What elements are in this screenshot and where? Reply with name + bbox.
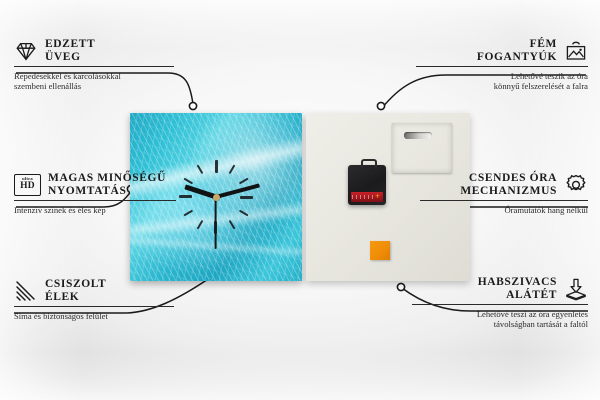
divider	[14, 306, 174, 307]
feature-description: Sima és biztonságos felület	[14, 311, 174, 321]
divider	[412, 304, 588, 305]
quartz-mechanism-box: +	[348, 165, 386, 205]
feature-description: Repedésekkel és karcolásokkal szembeni e…	[14, 71, 174, 91]
diamond-icon	[14, 39, 38, 63]
feature-title: CSENDES ÓRA MECHANIZMUS	[460, 172, 557, 197]
battery: +	[351, 192, 383, 202]
divider	[14, 66, 174, 67]
wire-endpoint-foam-pad	[397, 283, 404, 290]
clock-center-cap	[213, 194, 220, 201]
feature-description: Lehetővé teszi az óra egyenletes távolsá…	[412, 309, 588, 329]
divider	[416, 66, 588, 67]
feature-title: FÉM FOGANTYÚK	[477, 38, 557, 63]
foam-spacer-pad	[370, 241, 390, 260]
metal-hanger-plate	[392, 123, 452, 173]
wire-endpoint-tempered-glass	[189, 102, 196, 109]
divider	[420, 200, 588, 201]
product-image: +	[130, 113, 470, 281]
badge-hd-text: HD	[20, 182, 35, 192]
picture-hanger-icon	[564, 39, 588, 63]
feature-title: CSISZOLT ÉLEK	[45, 278, 106, 303]
feature-tempered-glass: EDZETT ÜVEG Repedésekkel és karcolásokka…	[14, 38, 174, 92]
divider	[14, 200, 176, 201]
battery-stripes	[352, 195, 373, 199]
feature-title: EDZETT ÜVEG	[45, 38, 95, 63]
battery-plus-terminal: +	[374, 193, 381, 200]
feature-description: Intenzív színek és éles kép	[14, 205, 176, 215]
infographic-canvas: + EDZETT ÜVEG Repedésekkel és karcolá	[0, 0, 600, 400]
polished-edge-lines-icon	[14, 279, 38, 303]
feature-foam-pad: HABSZIVACS ALÁTÉT Lehetővé teszi az óra …	[412, 276, 588, 330]
feature-title: HABSZIVACS ALÁTÉT	[478, 276, 557, 301]
wire-endpoint-metal-handles	[377, 102, 384, 109]
feature-metal-handles: FÉM FOGANTYÚK Lehetővé teszik az óra kön…	[416, 38, 588, 92]
feature-description: Lehetővé teszik az óra könnyű felszerelé…	[416, 71, 588, 91]
press-down-pad-icon	[564, 277, 588, 301]
feature-hd-print: ultra HD MAGAS MINŐSÉGŰ NYOMTATÁS Intenz…	[14, 172, 176, 215]
feature-description: Óramutatók hang nélkül	[420, 205, 588, 215]
feature-title: MAGAS MINŐSÉGŰ NYOMTATÁS	[48, 172, 166, 197]
ultra-hd-badge-icon: ultra HD	[14, 174, 41, 196]
mechanism-shaft	[361, 159, 377, 169]
hanger-slot	[404, 132, 432, 139]
feature-quiet-mechanism: CSENDES ÓRA MECHANIZMUS Óramutatók hang …	[420, 172, 588, 215]
clock-second-hand	[215, 197, 217, 249]
gear-icon	[564, 173, 588, 197]
feature-polished-edges: CSISZOLT ÉLEK Sima és biztonságos felüle…	[14, 278, 174, 321]
